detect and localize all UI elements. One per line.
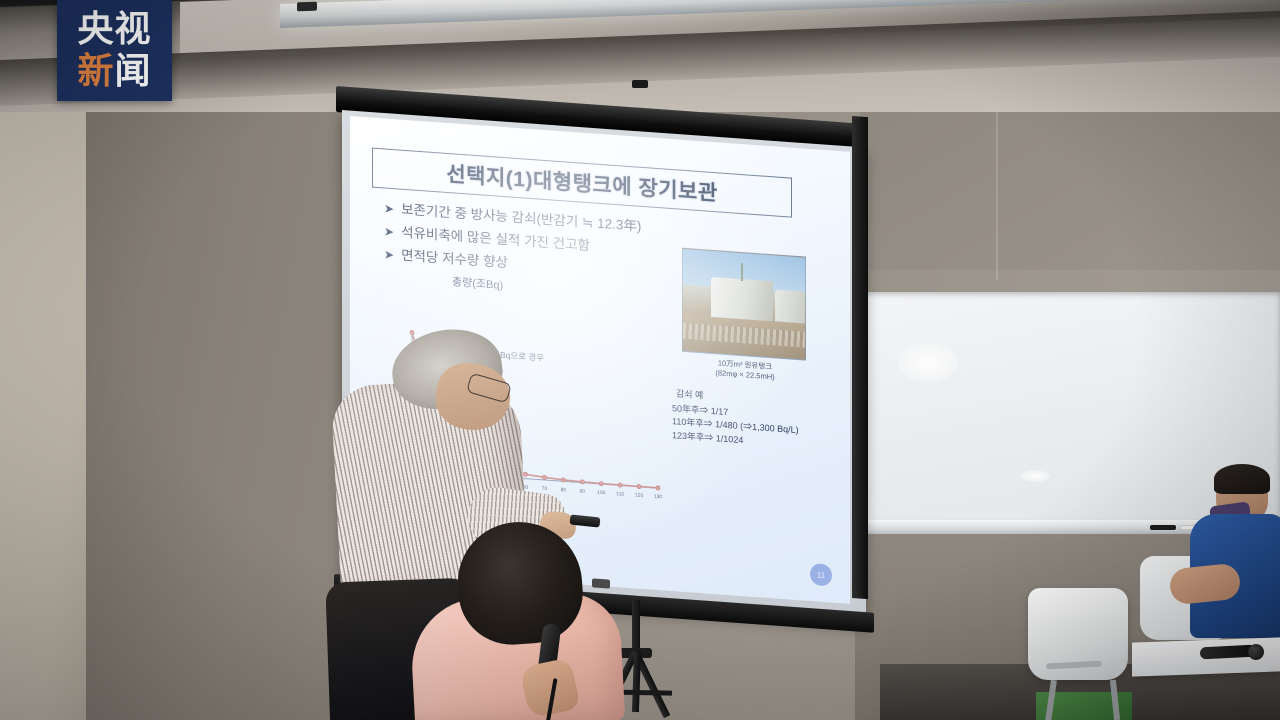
woman-hair <box>454 518 586 648</box>
black-marker <box>1150 525 1176 530</box>
oil-tank-photo <box>682 248 806 361</box>
chair-foreground <box>1028 588 1132 720</box>
bullet-marker-icon: ➤ <box>384 222 394 242</box>
chart-y-axis-label: 총량(조Bq) <box>452 273 503 293</box>
logo-char-shi: 视 <box>115 9 152 51</box>
logo-char-wen: 闻 <box>115 51 152 93</box>
ceiling-mount-bracket <box>297 2 317 12</box>
svg-text:80: 80 <box>561 487 567 493</box>
svg-text:90: 90 <box>580 488 586 494</box>
attendee-hair <box>1214 464 1270 494</box>
tank-mast <box>741 263 743 281</box>
screen-case-bracket <box>632 80 648 88</box>
chair-leg-left <box>1045 680 1057 720</box>
slide-page-badge: 11 <box>810 563 832 587</box>
desk-microphone-head <box>1248 644 1264 660</box>
broadcast-frame: 선택지(1)대형탱크에 장기보관 ➤ 보존기간 중 방사능 감쇠(반감기 ≒ 1… <box>0 0 1280 720</box>
logo-char-yang: 央 <box>77 9 114 51</box>
decay-example-table: 감쇠 예 50年후⇒ 1/17 110年후⇒ 1/480 (⇒1,300 Bq/… <box>672 387 799 451</box>
woman-with-microphone <box>412 522 642 720</box>
wall-corner-seam <box>996 100 998 280</box>
svg-text:120: 120 <box>635 492 644 499</box>
logo-line-2: 新 闻 <box>61 51 168 93</box>
chair-leg-right <box>1110 680 1120 720</box>
bullet-marker-icon: ➤ <box>384 199 394 219</box>
svg-text:70: 70 <box>542 486 548 492</box>
whiteboard-glare <box>1020 470 1050 482</box>
tank-primary <box>711 277 773 323</box>
logo-line-1: 央 视 <box>61 9 168 51</box>
bullet-marker-icon: ➤ <box>384 245 394 265</box>
svg-text:130: 130 <box>654 494 663 501</box>
cctv-news-logo: 央 视 新 闻 <box>57 0 172 101</box>
logo-char-xin: 新 <box>77 51 114 93</box>
svg-text:110: 110 <box>616 491 624 498</box>
screen-right-edge <box>852 116 868 599</box>
oil-tank-photo-caption: 10万m³ 원유탱크 (82mφ × 22.5mH) <box>680 356 810 385</box>
wall-left-column <box>0 46 88 720</box>
svg-text:100: 100 <box>597 490 606 497</box>
bullet-text: 면적당 저수량 향상 <box>401 246 508 273</box>
tank-secondary <box>775 289 805 323</box>
